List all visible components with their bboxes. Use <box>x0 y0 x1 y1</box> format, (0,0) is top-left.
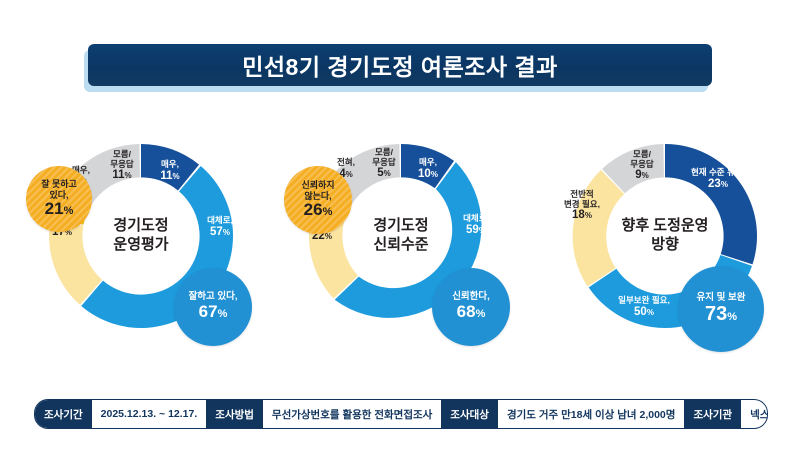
segment-label-no-answer: 모름/ 무응답 9% <box>620 150 664 182</box>
meta-value-method: 무선가상번호를 활용한 전화면접조사 <box>263 400 441 428</box>
meta-key-period: 조사기간 <box>35 400 92 428</box>
meta-key-agency: 조사기관 <box>684 400 741 428</box>
chart-panel-future-direction: 향후 도정운영 방향 현재 수준 유지, 23% 일부보완 필요, 50% 전반… <box>532 128 798 368</box>
chart-panel-operation-evaluation: 경기도정 운영평가 매우, 11% 대체로, 57% 대체로, 17% 매우, … <box>8 128 274 368</box>
title-bar: 민선8기 경기도정 여론조사 결과 <box>88 44 712 86</box>
meta-key-method: 조사방법 <box>206 400 263 428</box>
survey-meta-bar: 조사기간 2025.12.13. ~ 12.17. 조사방법 무선가상번호를 활… <box>34 399 768 429</box>
segment-label-maintain: 현재 수준 유지, 23% <box>678 168 758 190</box>
segment-label-partial-supplement: 일부보완 필요, 50% <box>604 296 684 318</box>
callout-positive: 유지 및 보완 73% <box>678 266 764 352</box>
segment-label-no-answer: 모름/ 무응답 11% <box>100 150 144 182</box>
callout-positive: 잘하고 있다, 67% <box>174 268 252 346</box>
meta-key-target: 조사대상 <box>441 400 498 428</box>
segment-label-mostly: 대체로, 59% <box>450 214 502 236</box>
callout-negative: 잘 못하고 있다, 21% <box>26 166 92 232</box>
infographic-canvas: 민선8기 경기도정 여론조사 결과 경기도정 <box>0 0 800 450</box>
segment-label-very: 매우, 10% <box>406 158 450 180</box>
title-text: 민선8기 경기도정 여론조사 결과 <box>242 48 558 82</box>
callout-positive: 신뢰한다, 68% <box>432 268 510 346</box>
segment-label-no-answer: 모름/ 무응답 5% <box>364 148 404 180</box>
slice-3-maintain <box>665 144 757 264</box>
meta-value-target: 경기도 거주 만18세 이상 남녀 2,000명 <box>498 400 684 428</box>
segment-label-very: 매우, 11% <box>148 160 192 182</box>
chart-panel-trust-level: 경기도정 신뢰수준 매우, 10% 대체로, 59% 별로, 22% 전혀, 4… <box>268 128 534 368</box>
meta-value-period: 2025.12.13. ~ 12.17. <box>92 400 207 428</box>
page-title: 민선8기 경기도정 여론조사 결과 <box>88 44 712 88</box>
callout-negative: 신뢰하지 않는다, 26% <box>284 166 352 234</box>
segment-label-overall-change: 전반적 변경 필요, 18% <box>552 190 612 222</box>
segment-label-mostly: 대체로, 57% <box>194 216 246 238</box>
meta-value-agency: 넥스트리서치㈜ <box>741 400 768 428</box>
